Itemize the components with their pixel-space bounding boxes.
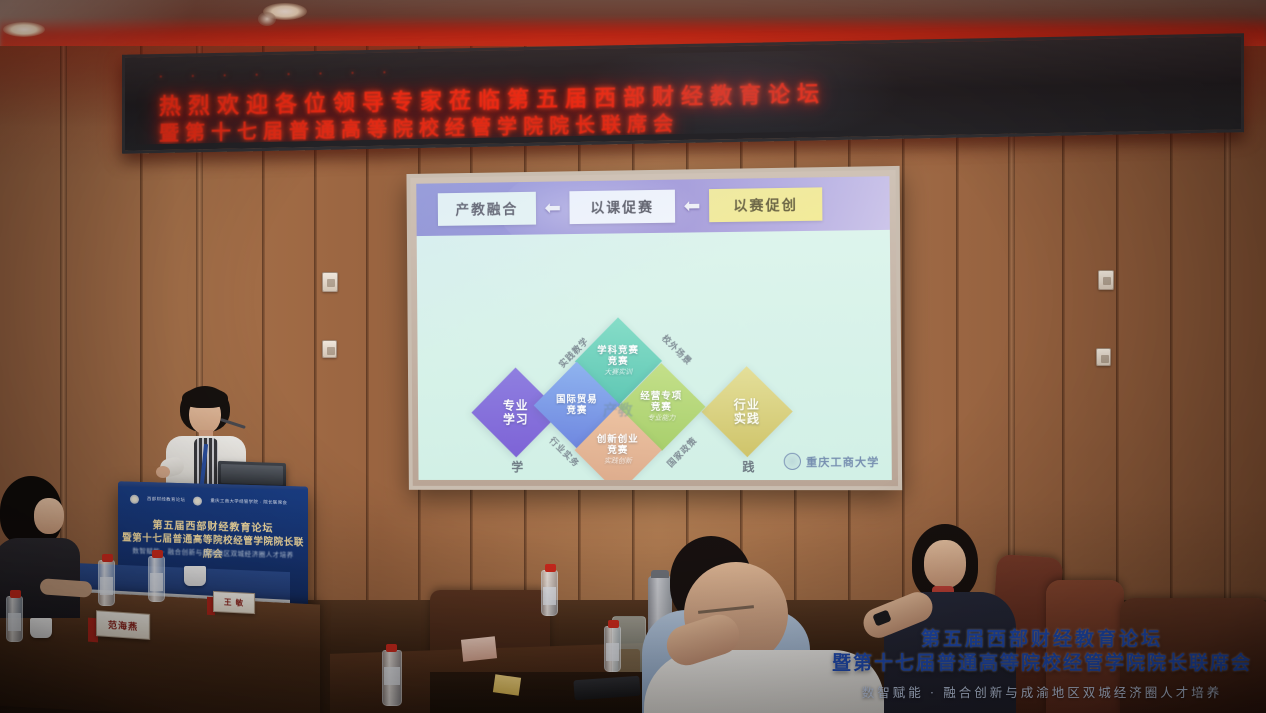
forum-seal-icon xyxy=(193,496,202,505)
diamond-label: 创新创业竞赛实践创新 xyxy=(597,434,639,467)
diamond-label: 专业学习 xyxy=(503,398,529,426)
diamond-sublabel: 大赛实训 xyxy=(598,369,640,377)
chip-yisai-cuchuang: 以赛促创 xyxy=(709,187,822,222)
axis-label-xue: 学 xyxy=(511,458,523,475)
arrow-left-icon: ⬅ xyxy=(536,198,570,218)
audience-member-right xyxy=(860,524,1010,713)
slide-body: 实践教学 校外场景 行业实务 国家政策 专业学习 行业实践 学科竞赛竞赛大赛实训… xyxy=(417,230,892,480)
diamond-label: 国际贸易竞赛 xyxy=(556,394,598,416)
diamond-sublabel: 专业能力 xyxy=(641,415,683,423)
water-bottle xyxy=(604,626,621,672)
water-bottle xyxy=(6,596,23,642)
diamond-diagram: 实践教学 校外场景 行业实务 国家政策 专业学习 行业实践 学科竞赛竞赛大赛实训… xyxy=(417,284,892,481)
chip-chanjiao-ronghe: 产教融合 xyxy=(438,192,536,226)
diamond-label: 行业实践 xyxy=(734,397,760,426)
wall-outlet[interactable] xyxy=(1098,270,1114,290)
conference-hall-photo: · · · · · · · · 热烈欢迎各位领导专家莅临第五届西部财经教育论坛 … xyxy=(0,0,1266,713)
slide-university-logo: 重庆工商大学 xyxy=(784,453,880,470)
water-bottle xyxy=(541,570,558,616)
diamond-label: 学科竞赛竞赛大赛实训 xyxy=(597,345,639,378)
podium-logo-row: 西部财经教育论坛 重庆工商大学经管学院 · 院长联席会 xyxy=(130,494,298,509)
diagram-center-mark: 产教 xyxy=(601,392,635,426)
audience-face xyxy=(924,540,966,588)
sprinkler-head-icon xyxy=(258,12,276,26)
projection-screen: 产教融合 ⬅ 以课促赛 ⬅ 以赛促创 实践教学 校外场景 行业实务 国家政策 专… xyxy=(406,166,902,490)
paper-note xyxy=(493,674,521,695)
name-placard: 范海燕 xyxy=(96,610,150,640)
arrow-left-icon: ⬅ xyxy=(675,196,709,217)
slide-flow-chips: 产教融合 ⬅ 以课促赛 ⬅ 以赛促创 xyxy=(438,187,870,226)
diamond-label: 经营专项竞赛专业能力 xyxy=(640,391,682,424)
presenter-fringe xyxy=(182,388,228,408)
audience-member-foreground xyxy=(656,562,866,713)
diamond-sublabel: 实践创新 xyxy=(597,458,639,466)
water-bottle xyxy=(382,650,402,706)
university-name: 重庆工商大学 xyxy=(806,453,879,469)
university-seal-icon xyxy=(130,494,139,503)
podium-org-left: 西部财经教育论坛 xyxy=(147,496,185,503)
led-panel-glare xyxy=(573,42,904,144)
diamond-hangye-shijian: 行业实践 xyxy=(701,366,792,457)
wall-outlet[interactable] xyxy=(1096,348,1111,366)
wall-outlet[interactable] xyxy=(322,272,338,292)
paper-cup xyxy=(184,566,206,586)
paper-note xyxy=(461,636,497,661)
wall-outlet[interactable] xyxy=(322,340,337,358)
audience-chair xyxy=(1120,598,1266,713)
paper-cup xyxy=(30,618,52,638)
led-banner-line-1: · · · · · · · · xyxy=(159,64,399,84)
name-placard: 王 敏 xyxy=(213,591,255,614)
presenter-hand xyxy=(156,466,170,478)
university-seal-icon xyxy=(784,453,801,470)
podium-org-right: 重庆工商大学经管学院 · 院长联席会 xyxy=(210,498,287,506)
water-bottle xyxy=(98,560,115,606)
axis-label-jian: 践 xyxy=(742,458,754,475)
audience-chair xyxy=(1046,580,1124,713)
edge-label-xiaowai-changjing: 校外场景 xyxy=(659,332,695,367)
chip-yike-cusai: 以课促赛 xyxy=(569,190,675,224)
attendee-face xyxy=(34,498,64,534)
slide-header-band: 产教融合 ⬅ 以课促赛 ⬅ 以赛促创 xyxy=(416,176,890,236)
water-bottle xyxy=(148,556,165,602)
ceiling-downlight-icon xyxy=(3,22,45,37)
projected-slide: 产教融合 ⬅ 以课促赛 ⬅ 以赛促创 实践教学 校外场景 行业实务 国家政策 专… xyxy=(416,176,892,480)
